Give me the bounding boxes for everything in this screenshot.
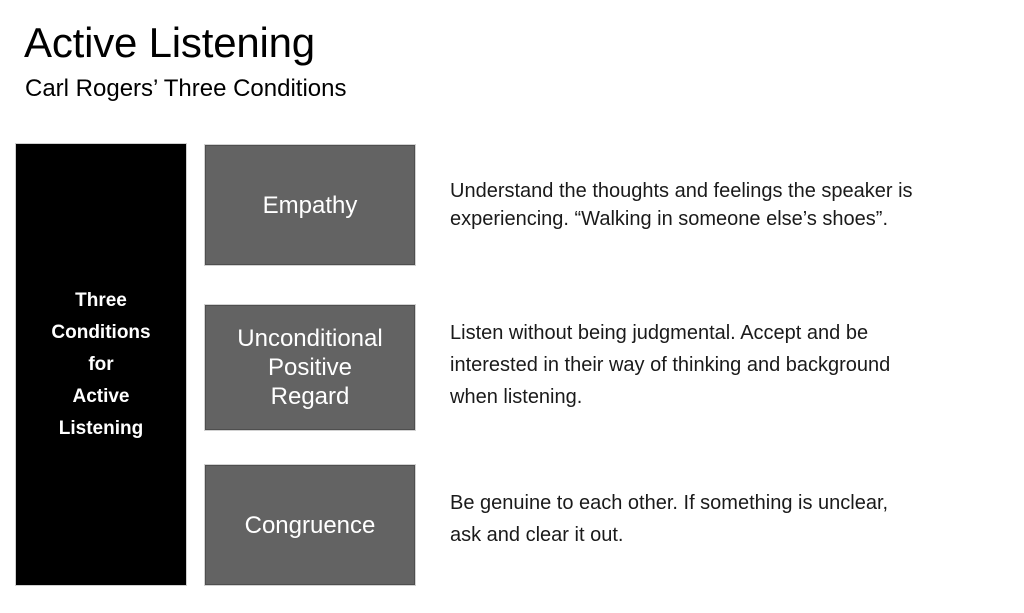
condition-box-congruence: Congruence xyxy=(205,465,415,585)
condition-box-label: Unconditional Positive Regard xyxy=(229,324,390,411)
slide-canvas: Active Listening Carl Rogers’ Three Cond… xyxy=(0,0,1024,613)
page-title: Active Listening xyxy=(24,18,315,68)
condition-box-unconditional-positive-regard: Unconditional Positive Regard xyxy=(205,305,415,430)
condition-box-empathy: Empathy xyxy=(205,145,415,265)
condition-description-empathy: Understand the thoughts and feelings the… xyxy=(450,177,998,233)
condition-box-label: Congruence xyxy=(237,511,384,540)
left-summary-panel: Three Conditions for Active Listening xyxy=(16,144,186,585)
page-subtitle: Carl Rogers’ Three Conditions xyxy=(25,74,346,104)
left-summary-panel-label: Three Conditions for Active Listening xyxy=(45,285,156,445)
condition-box-label: Empathy xyxy=(255,191,366,220)
condition-description-unconditional-positive-regard: Listen without being judgmental. Accept … xyxy=(450,317,998,413)
condition-description-congruence: Be genuine to each other. If something i… xyxy=(450,487,998,551)
